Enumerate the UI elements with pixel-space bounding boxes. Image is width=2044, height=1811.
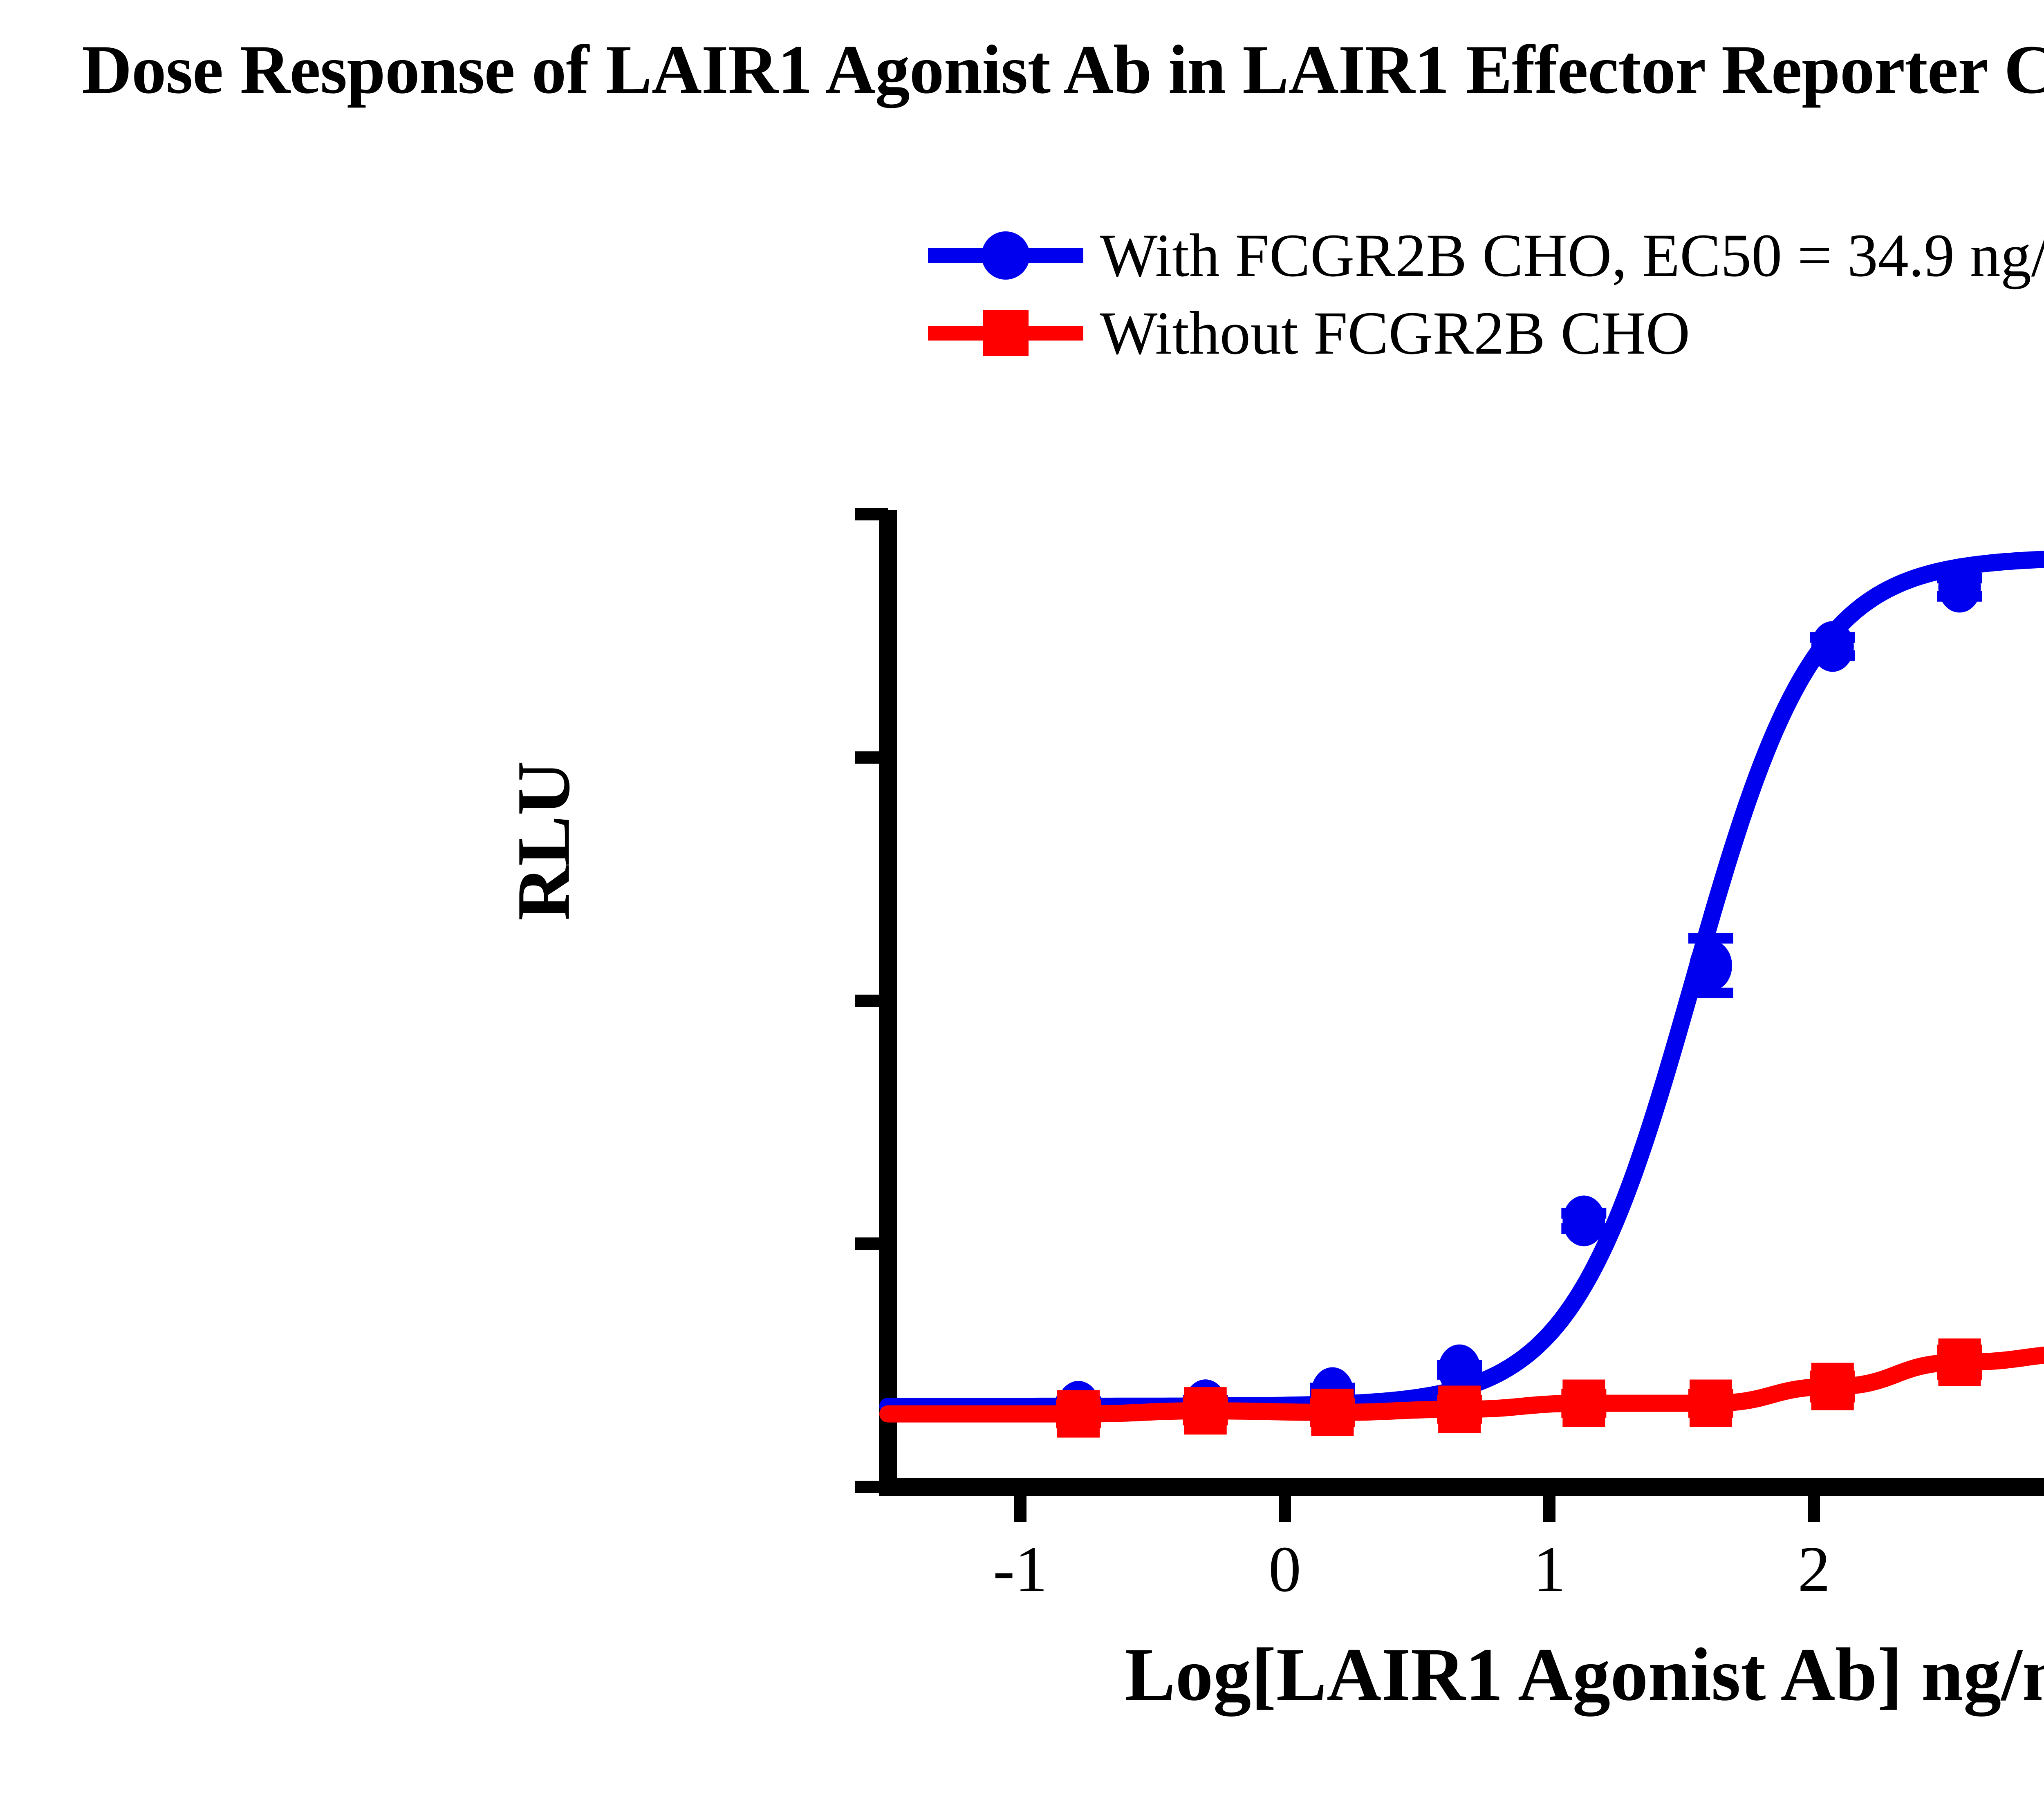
y-tick — [855, 1237, 888, 1250]
x-tick — [1014, 1487, 1026, 1522]
legend-square-marker-icon — [928, 309, 1083, 358]
y-tick — [855, 995, 888, 1007]
x-axis-title: Log[LAIR1 Agonist Ab] ng/ml — [888, 1631, 2044, 1718]
data-point — [1811, 621, 1854, 672]
data-point — [1311, 1389, 1354, 1436]
data-layer — [888, 514, 2044, 1487]
y-tick — [855, 751, 888, 764]
series-with-fcgr2b — [888, 509, 2044, 1432]
x-tick-label: 1 — [1488, 1536, 1611, 1602]
plot-area: 0160000320000480000640000 -101234 — [888, 514, 2044, 1487]
legend-circle-marker-icon — [928, 231, 1083, 280]
y-tick — [855, 1481, 888, 1493]
legend-item-label: With FCGR2B CHO, EC50 = 34.9 ng/ml — [1083, 220, 2044, 291]
legend-item-with-fcgr2b: With FCGR2B CHO, EC50 = 34.9 ng/ml — [928, 217, 2044, 294]
data-point — [1562, 1380, 1605, 1427]
chart-figure: Dose Response of LAIR1 Agonist Ab in LAI… — [0, 0, 2044, 1811]
fit-curve — [888, 557, 2044, 1406]
x-tick-label: -1 — [959, 1536, 1082, 1602]
legend-item-without-fcgr2b: Without FCGR2B CHO — [928, 294, 2044, 372]
x-tick-label: 0 — [1224, 1536, 1346, 1602]
legend-item-label: Without FCGR2B CHO — [1083, 298, 1690, 368]
x-tick — [1279, 1487, 1291, 1522]
y-tick — [855, 508, 888, 520]
data-point — [1057, 1390, 1100, 1438]
x-tick-label: 2 — [1753, 1536, 1875, 1602]
data-point — [1938, 1338, 1981, 1386]
data-point — [1690, 940, 1732, 991]
x-tick — [1543, 1487, 1555, 1522]
chart-legend: With FCGR2B CHO, EC50 = 34.9 ng/ml Witho… — [928, 217, 2044, 372]
data-point — [1690, 1380, 1732, 1427]
x-tick — [1808, 1487, 1820, 1522]
data-point — [1811, 1363, 1854, 1410]
page-title: Dose Response of LAIR1 Agonist Ab in LAI… — [82, 12, 2044, 113]
x-tick-label: 3 — [2017, 1536, 2044, 1602]
data-point — [1938, 562, 1981, 612]
data-point — [1438, 1385, 1481, 1433]
data-point — [1562, 1195, 1605, 1246]
y-axis-title: RLU — [500, 718, 587, 964]
data-point — [1184, 1387, 1227, 1434]
